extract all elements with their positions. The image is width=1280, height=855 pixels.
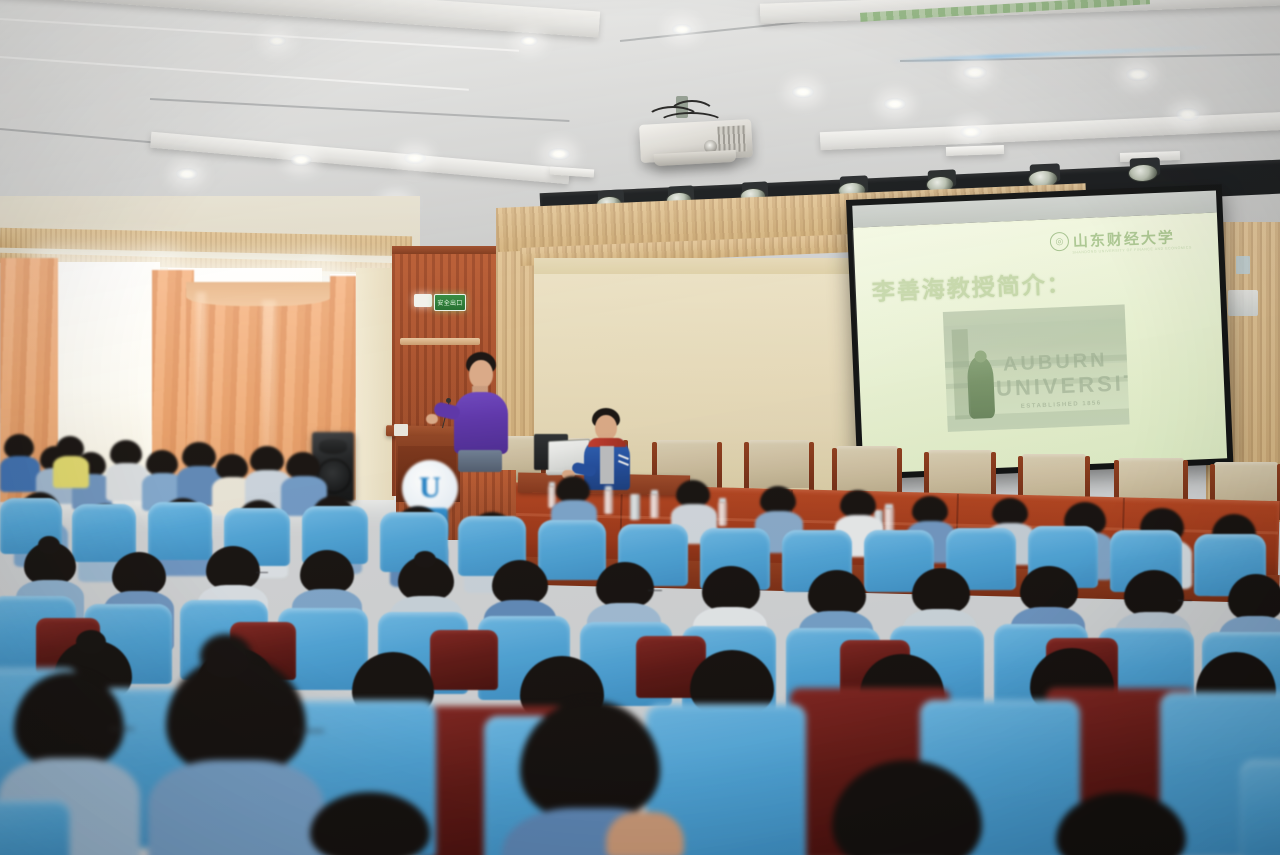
auditorium-seat[interactable] bbox=[1240, 760, 1280, 855]
auditorium-seat[interactable] bbox=[538, 520, 606, 580]
projector-vent bbox=[717, 125, 746, 152]
wall-fixture bbox=[1228, 290, 1258, 316]
wall-fixture bbox=[1236, 256, 1250, 274]
ceiling-downlight bbox=[792, 86, 814, 98]
ceiling-downlight bbox=[176, 168, 198, 180]
ceiling-downlight bbox=[548, 148, 570, 160]
podium-papers bbox=[394, 424, 408, 436]
water-bottle bbox=[604, 490, 613, 514]
stage-wall-shadow bbox=[534, 258, 864, 274]
auditorium-seat[interactable] bbox=[72, 504, 136, 562]
slide-photo-word-main: UNIVERSITY bbox=[995, 369, 1129, 402]
projection-screen-frame: ◎ 山东财经大学 SHANDONG UNIVERSITY OF FINANCE … bbox=[846, 184, 1233, 479]
slide-embedded-photo: AUBURN UNIVERSITY ESTABLISHED 1856 bbox=[943, 304, 1130, 432]
exit-sign: 安全出口 bbox=[434, 294, 466, 311]
bottle-cap bbox=[885, 504, 893, 509]
bottle-cap bbox=[605, 486, 612, 491]
shield-icon: ◎ bbox=[1050, 232, 1070, 252]
window-reveal bbox=[356, 268, 394, 500]
raised-hand bbox=[606, 812, 684, 855]
slide-photo-word-small: ESTABLISHED 1856 bbox=[1021, 400, 1102, 409]
projection-screen[interactable]: ◎ 山东财经大学 SHANDONG UNIVERSITY OF FINANCE … bbox=[853, 212, 1227, 473]
stage-chair bbox=[836, 446, 898, 496]
lecture-hall-photo: 安全出口 ◎ 山东财经大学 SHANDONG UNIVERSITY OF FIN… bbox=[0, 0, 1280, 855]
exit-sign-housing bbox=[414, 294, 432, 307]
exit-sign-label: 安全出口 bbox=[437, 298, 462, 307]
ceiling-downlight bbox=[520, 36, 538, 46]
wall-ledge bbox=[400, 338, 480, 345]
ceiling-downlight bbox=[268, 36, 286, 46]
bottle-cap bbox=[651, 490, 658, 495]
water-bottle bbox=[718, 502, 727, 526]
stage-chair bbox=[748, 440, 810, 488]
ceiling-downlight bbox=[1176, 108, 1200, 121]
ceiling-downlight bbox=[290, 154, 312, 166]
ceiling-downlight bbox=[1126, 68, 1150, 81]
ceiling-downlight bbox=[963, 66, 987, 79]
microphone-head bbox=[446, 398, 451, 403]
thermos-flask bbox=[630, 494, 640, 520]
bottle-cap bbox=[719, 498, 726, 503]
ceiling-downlight bbox=[672, 24, 692, 35]
stage-wall-trim bbox=[392, 246, 510, 254]
logo-glyph: U bbox=[419, 473, 441, 503]
ceiling-downlight bbox=[960, 126, 982, 138]
curtain-valance bbox=[186, 282, 332, 306]
auditorium-seat-back[interactable] bbox=[430, 630, 498, 690]
bottle-cap bbox=[549, 482, 555, 487]
ceiling-downlight bbox=[404, 152, 426, 164]
ceiling-downlight bbox=[884, 98, 906, 110]
auditorium-seat[interactable] bbox=[148, 502, 212, 560]
water-bottle bbox=[650, 494, 659, 518]
slide-title: 李善海教授简介： bbox=[871, 265, 1072, 307]
auditorium-seat[interactable] bbox=[0, 800, 70, 855]
